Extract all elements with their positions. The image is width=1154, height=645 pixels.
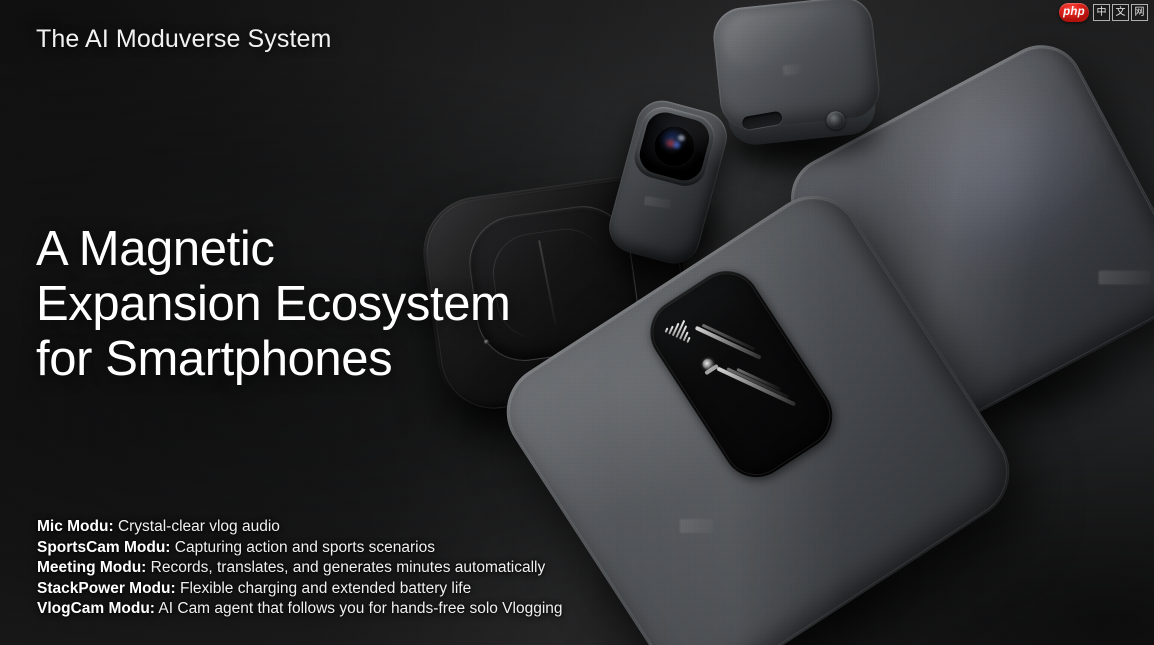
headline-line-2: Expansion Ecosystem	[36, 277, 510, 332]
feature-name: Meeting Modu:	[37, 559, 146, 576]
list-item: StackPower Modu: Flexible charging and e…	[37, 579, 563, 600]
feature-name: Mic Modu:	[37, 518, 114, 535]
feature-desc: Records, translates, and generates minut…	[151, 559, 546, 576]
list-item: Mic Modu: Crystal-clear vlog audio	[37, 517, 563, 538]
feature-name: StackPower Modu:	[37, 580, 176, 597]
feature-desc: AI Cam agent that follows you for hands-…	[158, 600, 562, 617]
promo-hero-image: The AI Moduverse System A Magnetic Expan…	[0, 0, 1154, 645]
phone-brand-mark	[680, 519, 714, 533]
feature-desc: Capturing action and sports scenarios	[175, 539, 435, 556]
php-logo-icon: php	[1059, 3, 1089, 22]
list-item: SportsCam Modu: Capturing action and spo…	[37, 538, 563, 559]
square-mic-module	[710, 0, 885, 162]
cn-char-1: 中	[1093, 4, 1110, 21]
cn-char-2: 文	[1112, 4, 1129, 21]
cn-char-3: 网	[1131, 4, 1148, 21]
feature-name: SportsCam Modu:	[37, 539, 170, 556]
list-item: VlogCam Modu: AI Cam agent that follows …	[37, 599, 563, 620]
feature-desc: Crystal-clear vlog audio	[118, 518, 280, 535]
headline-line-3: for Smartphones	[36, 332, 510, 387]
powerbank-brand-mark	[1099, 271, 1151, 285]
page-title: A Magnetic Expansion Ecosystem for Smart…	[36, 222, 510, 387]
feature-list: Mic Modu: Crystal-clear vlog audio Sport…	[37, 517, 563, 620]
list-item: Meeting Modu: Records, translates, and g…	[37, 558, 563, 579]
watermark: php 中 文 网	[1059, 3, 1148, 22]
eyebrow-title: The AI Moduverse System	[36, 25, 331, 54]
headline-line-1: A Magnetic	[36, 222, 510, 277]
watermark-cn-text: 中 文 网	[1093, 4, 1148, 21]
feature-desc: Flexible charging and extended battery l…	[180, 580, 471, 597]
block-module-brand-mark	[783, 64, 802, 76]
feature-name: VlogCam Modu:	[37, 600, 155, 617]
